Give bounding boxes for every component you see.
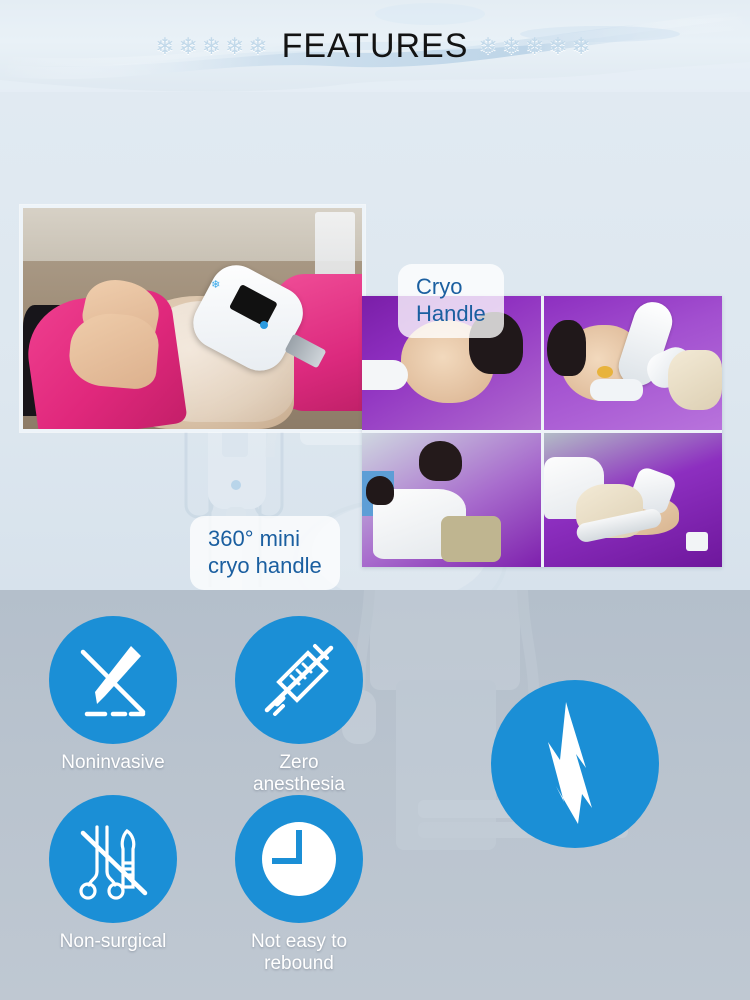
feature-label: Noninvasive <box>48 752 178 774</box>
snowflake-icon: ❄ <box>211 278 220 291</box>
lightning-bolt-icon <box>520 698 630 830</box>
collage-photo-3 <box>362 433 541 567</box>
feature-noninvasive[interactable]: Noninvasive <box>48 616 178 774</box>
snowflake-decoration-right: ❄❄❄❄❄ <box>478 35 594 58</box>
clock-icon <box>253 813 345 905</box>
callout-cryo-line1: Cryo <box>416 274 486 301</box>
feature-label: Non-surgical <box>48 931 178 953</box>
syringe-crossed-icon <box>253 634 345 726</box>
scissors-crossed-icon <box>67 813 159 905</box>
feature-label-line2: anesthesia <box>234 774 364 796</box>
temperature-circle <box>491 680 659 848</box>
page-header: ❄❄❄❄❄ FEATURES ❄❄❄❄❄ <box>0 0 750 92</box>
feature-zero-anesthesia[interactable]: Zero anesthesia <box>234 616 364 796</box>
zero-anesthesia-circle <box>235 616 363 744</box>
stage-section: ❄ <box>0 92 750 590</box>
not-easy-rebound-circle <box>235 795 363 923</box>
feature-label-line1: Not easy to <box>234 931 364 953</box>
callout-cryo-line2: Handle <box>416 301 486 328</box>
callout-cryo-handle: Cryo Handle <box>398 264 504 338</box>
scalpel-crossed-icon <box>67 634 159 726</box>
callout-mini-cryo-handle: 360° mini cryo handle <box>190 516 340 590</box>
feature-page: ❄❄❄❄❄ FEATURES ❄❄❄❄❄ <box>0 0 750 1000</box>
main-treatment-photo: ❄ <box>20 205 365 432</box>
feature-non-surgical[interactable]: Non-surgical <box>48 795 178 953</box>
feature-label: Not easy to rebound <box>234 931 364 975</box>
feature-label-line1: Zero <box>234 752 364 774</box>
non-surgical-circle <box>49 795 177 923</box>
feature-label-line2: rebound <box>234 953 364 975</box>
noninvasive-circle <box>49 616 177 744</box>
collage-photo-4 <box>544 433 723 567</box>
callout-mini-line2: cryo handle <box>208 553 322 580</box>
feature-temperature[interactable] <box>490 680 660 848</box>
page-title: FEATURES <box>282 27 469 66</box>
collage-photo-2 <box>544 296 723 430</box>
callout-mini-line1: 360° mini <box>208 526 322 553</box>
features-section: Noninvasive <box>0 590 750 1000</box>
feature-not-easy-to-rebound[interactable]: Not easy to rebound <box>234 795 364 975</box>
feature-label: Zero anesthesia <box>234 752 364 796</box>
snowflake-decoration-left: ❄❄❄❄❄ <box>155 35 271 58</box>
